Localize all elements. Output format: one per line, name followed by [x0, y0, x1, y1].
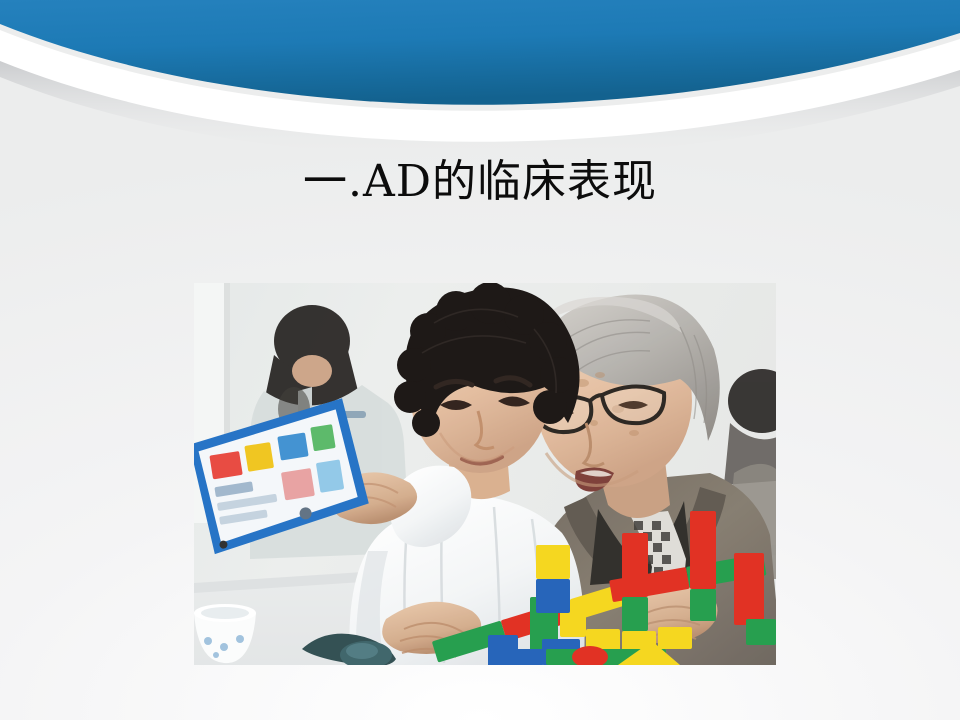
therapy-session-photo	[194, 283, 776, 665]
page-title: 一.AD的临床表现	[0, 158, 960, 206]
header-banner	[0, 0, 960, 150]
page-title-text: 一.AD的临床表现	[303, 158, 657, 206]
slide-canvas: 一.AD的临床表现	[0, 0, 960, 720]
